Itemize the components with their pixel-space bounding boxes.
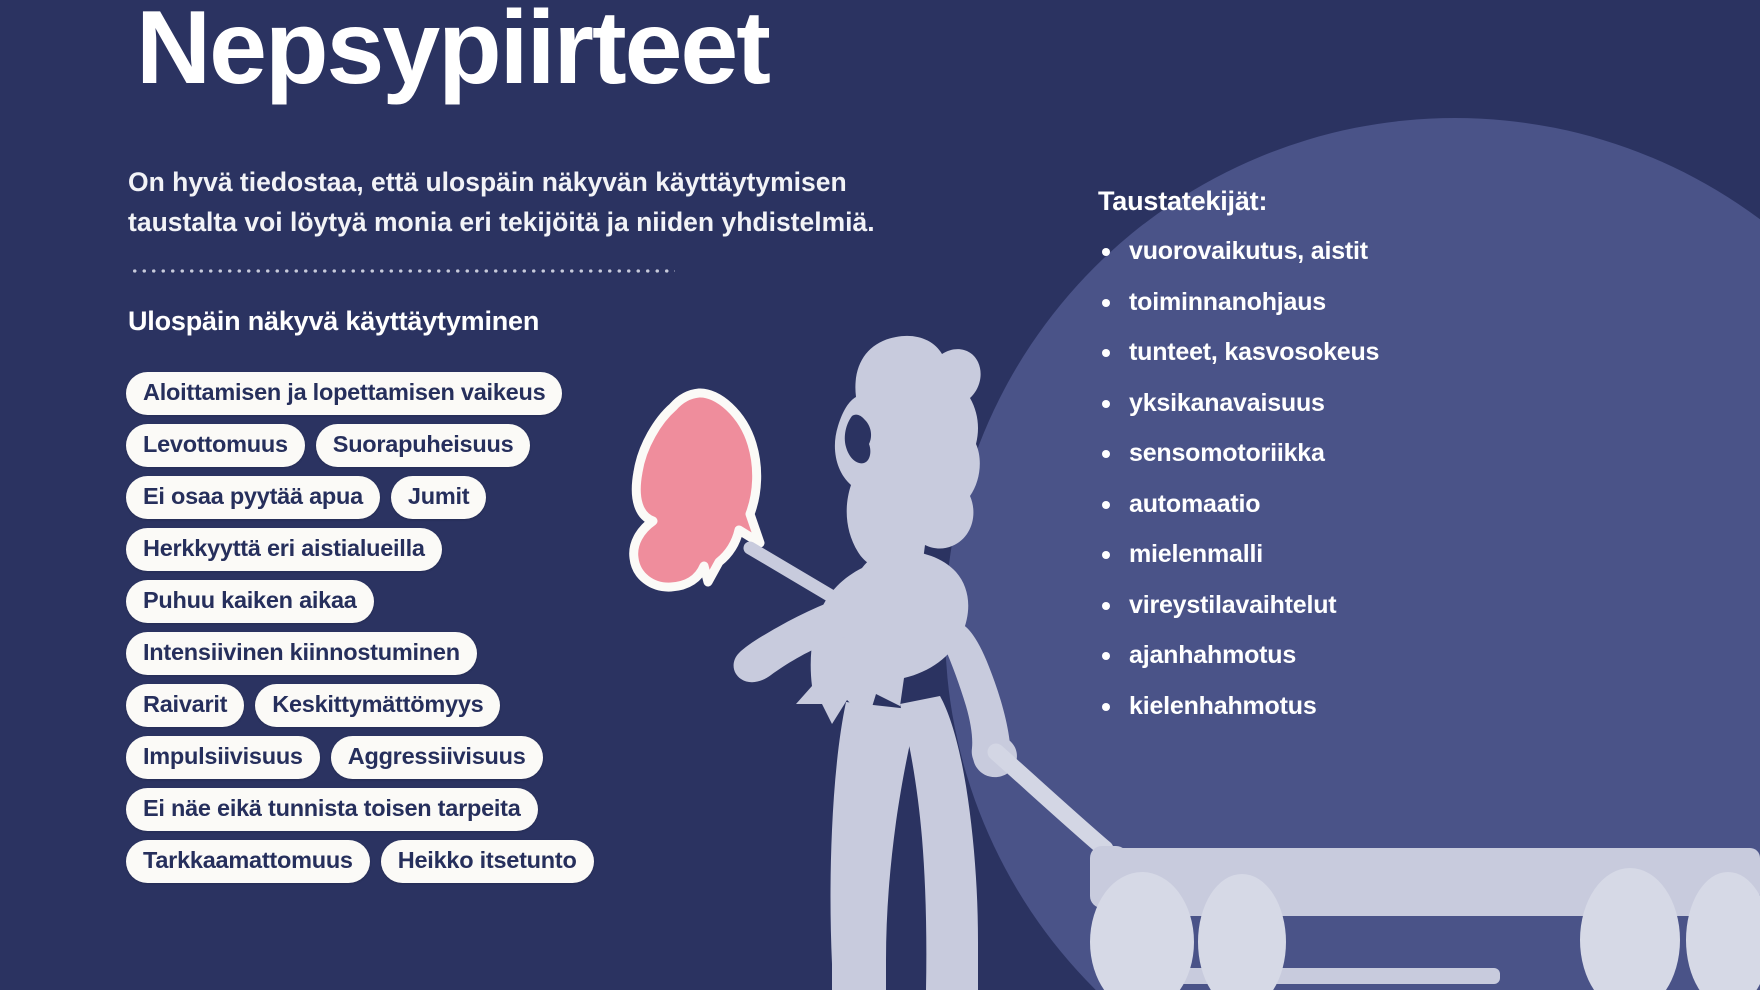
behaviour-pill[interactable]: Herkkyyttä eri aistialueilla	[126, 528, 442, 571]
bullet-dot-icon	[1102, 551, 1110, 559]
pill-row: Intensiivinen kiinnostuminen	[126, 632, 826, 675]
list-item-label: automaatio	[1129, 490, 1260, 518]
behaviour-pill[interactable]: Heikko itsetunto	[381, 840, 594, 883]
list-item: mielenmalli	[1098, 542, 1698, 567]
bullet-dot-icon	[1102, 450, 1110, 458]
list-item: ajanhahmotus	[1098, 643, 1698, 668]
pill-row: Ei näe eikä tunnista toisen tarpeita	[126, 788, 826, 831]
list-item-label: yksikanavaisuus	[1129, 389, 1325, 417]
list-item: sensomotoriikka	[1098, 441, 1698, 466]
pill-row: Herkkyyttä eri aistialueilla	[126, 528, 826, 571]
behaviour-pill[interactable]: Aggressiivisuus	[331, 736, 543, 779]
pill-row: Impulsiivisuus Aggressiivisuus	[126, 736, 826, 779]
right-section-heading: Taustatekijät:	[1098, 186, 1698, 217]
behaviour-pill[interactable]: Jumit	[391, 476, 486, 519]
wagon-handle	[996, 752, 1105, 849]
infographic-poster: Nepsypiirteet On hyvä tiedostaa, että ul…	[0, 0, 1760, 990]
behaviour-pill[interactable]: Tarkkaamattomuus	[126, 840, 370, 883]
page-title: Nepsypiirteet	[136, 0, 769, 104]
dotted-divider	[130, 268, 675, 274]
bullet-dot-icon	[1102, 299, 1110, 307]
behaviour-pill[interactable]: Levottomuus	[126, 424, 305, 467]
behaviour-pill[interactable]: Ei osaa pyytää apua	[126, 476, 380, 519]
behaviour-pill[interactable]: Intensiivinen kiinnostuminen	[126, 632, 477, 675]
list-item: vuorovaikutus, aistit	[1098, 239, 1698, 264]
list-item-label: kielenhahmotus	[1129, 692, 1317, 720]
list-item: vireystilavaihtelut	[1098, 593, 1698, 618]
behaviour-pill[interactable]: Keskittymättömyys	[255, 684, 500, 727]
behaviour-pill[interactable]: Suorapuheisuus	[316, 424, 531, 467]
left-section-heading: Ulospäin näkyvä käyttäytyminen	[128, 306, 539, 337]
intro-paragraph: On hyvä tiedostaa, että ulospäin näkyvän…	[128, 162, 958, 243]
pill-row: Raivarit Keskittymättömyys	[126, 684, 826, 727]
behaviour-pill[interactable]: Impulsiivisuus	[126, 736, 320, 779]
list-item-label: ajanhahmotus	[1129, 641, 1296, 669]
list-item: yksikanavaisuus	[1098, 391, 1698, 416]
pill-row: Puhuu kaiken aikaa	[126, 580, 826, 623]
pill-row: Tarkkaamattomuus Heikko itsetunto	[126, 840, 826, 883]
bullet-dot-icon	[1102, 349, 1110, 357]
bullet-dot-icon	[1102, 602, 1110, 610]
list-item: toiminnanohjaus	[1098, 290, 1698, 315]
list-item: automaatio	[1098, 492, 1698, 517]
bullet-dot-icon	[1102, 703, 1110, 711]
pill-row: Ei osaa pyytää apua Jumit	[126, 476, 826, 519]
list-item-label: sensomotoriikka	[1129, 439, 1325, 467]
list-item-label: toiminnanohjaus	[1129, 288, 1326, 316]
list-item-label: vuorovaikutus, aistit	[1129, 237, 1368, 265]
right-column: Taustatekijät: vuorovaikutus, aistit toi…	[1098, 186, 1698, 744]
behaviour-pill[interactable]: Ei näe eikä tunnista toisen tarpeita	[126, 788, 538, 831]
bullet-dot-icon	[1102, 652, 1110, 660]
behaviour-pill[interactable]: Aloittamisen ja lopettamisen vaikeus	[126, 372, 562, 415]
left-column: Nepsypiirteet On hyvä tiedostaa, että ul…	[0, 0, 880, 990]
behaviour-pill[interactable]: Raivarit	[126, 684, 244, 727]
behaviour-pill-list: Aloittamisen ja lopettamisen vaikeus Lev…	[126, 372, 826, 892]
bullet-dot-icon	[1102, 248, 1110, 256]
list-item-label: tunteet, kasvosokeus	[1129, 338, 1379, 366]
list-item: tunteet, kasvosokeus	[1098, 340, 1698, 365]
list-item-label: mielenmalli	[1129, 540, 1263, 568]
list-item: kielenhahmotus	[1098, 694, 1698, 719]
pill-row: Levottomuus Suorapuheisuus	[126, 424, 826, 467]
pill-row: Aloittamisen ja lopettamisen vaikeus	[126, 372, 826, 415]
list-item-label: vireystilavaihtelut	[1129, 591, 1336, 619]
bullet-dot-icon	[1102, 501, 1110, 509]
bullet-dot-icon	[1102, 400, 1110, 408]
wagon-icon	[1090, 846, 1760, 990]
background-factors-list: vuorovaikutus, aistit toiminnanohjaus tu…	[1098, 239, 1698, 719]
behaviour-pill[interactable]: Puhuu kaiken aikaa	[126, 580, 374, 623]
